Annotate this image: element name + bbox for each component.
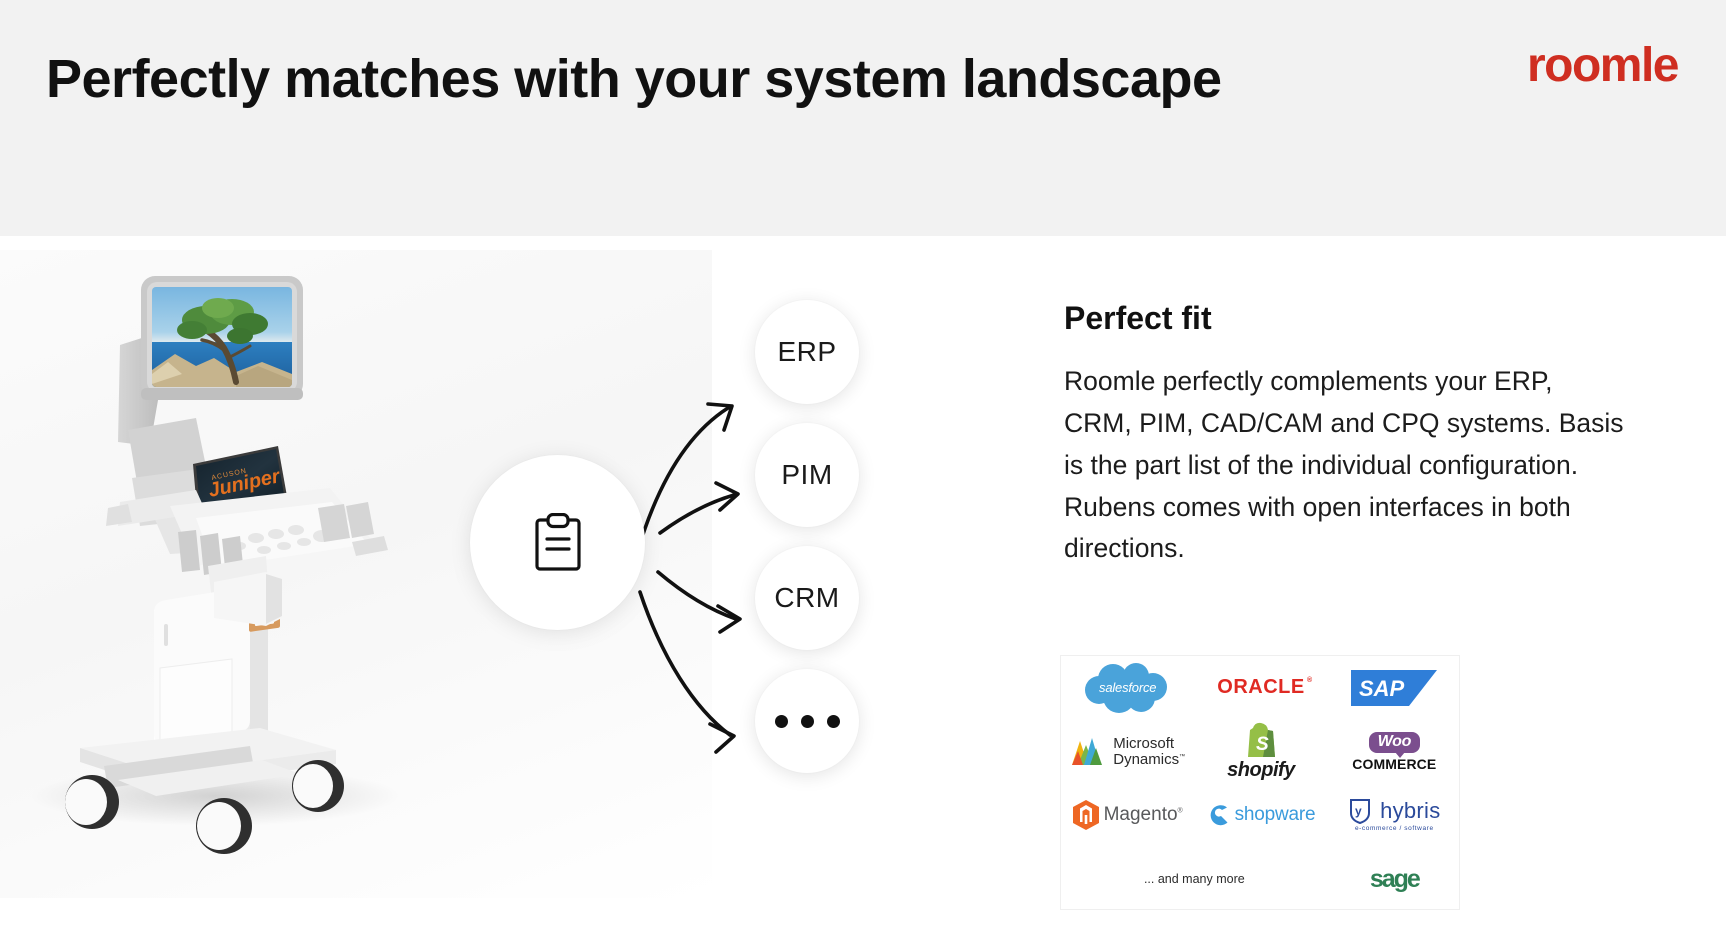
partner-logo-card: salesforce ORACLE® SAP [1060,655,1460,910]
system-node-crm[interactable]: CRM [755,546,859,650]
slide-header: Perfectly matches with your system lands… [0,0,1726,236]
partner-logo-shopware: shopware [1194,784,1327,848]
partner-logo-sage: sage [1328,847,1461,911]
oracle-label: ORACLE [1217,676,1304,698]
part-list-hub [470,455,645,630]
svg-text:SAP: SAP [1359,676,1405,701]
shopify-bag-icon: S [1244,722,1278,758]
info-body: Roomle perfectly complements your ERP, C… [1064,361,1624,570]
partner-logo-hybris: y hybris e-commerce / software [1328,784,1461,848]
microsoft-dynamics-icon [1070,735,1108,769]
hybris-sublabel: e-commerce / software [1355,825,1434,832]
hybris-shield-icon: y [1348,798,1372,824]
partner-footnote-label: ... and many more [1144,872,1245,886]
microsoft-dynamics-label-2: Dynamics [1113,751,1179,768]
woocommerce-label-2: COMMERCE [1352,756,1436,772]
system-node-pim[interactable]: PIM [755,423,859,527]
integration-flow-diagram: ERP PIM CRM [470,280,960,850]
roomle-logo: roomle [1527,42,1678,90]
hybris-label: hybris [1380,798,1441,824]
salesforce-label: salesforce [1079,662,1177,714]
shopware-label: shopware [1235,804,1316,826]
system-node-more[interactable] [755,669,859,773]
magento-icon [1073,800,1099,830]
partner-footnote: ... and many more [1061,847,1328,911]
svg-text:S: S [1256,734,1269,755]
shopify-label: shopify [1227,759,1295,782]
system-node-crm-label: CRM [774,582,839,614]
microsoft-dynamics-label-1: Microsoft [1113,736,1185,752]
system-node-erp[interactable]: ERP [755,300,859,404]
ellipsis-icon [775,715,840,728]
partner-logo-shopify: S shopify [1194,720,1327,784]
svg-text:y: y [1355,804,1362,818]
shopware-icon [1207,803,1231,827]
info-block: Perfect fit Roomle perfectly complements… [1064,300,1624,570]
page-title: Perfectly matches with your system lands… [46,48,1222,110]
system-node-pim-label: PIM [781,459,832,491]
sage-label: sage [1370,865,1419,894]
clipboard-icon [532,513,584,573]
partner-logo-oracle: ORACLE® [1194,656,1327,720]
partner-logo-woocommerce: Woo COMMERCE [1328,720,1461,784]
partner-logo-magento: Magento® [1061,784,1194,848]
woocommerce-label-1: Woo [1369,732,1420,753]
info-heading: Perfect fit [1064,300,1624,337]
partner-logo-microsoft-dynamics: Microsoft Dynamics™ [1061,720,1194,784]
magento-label: Magento [1104,804,1178,825]
sap-logo-icon: SAP [1351,670,1437,706]
slide: Perfectly matches with your system lands… [0,0,1726,948]
partner-logo-salesforce: salesforce [1061,656,1194,720]
partner-logo-grid: salesforce ORACLE® SAP [1061,656,1461,911]
partner-logo-sap: SAP [1328,656,1461,720]
system-node-erp-label: ERP [777,336,836,368]
